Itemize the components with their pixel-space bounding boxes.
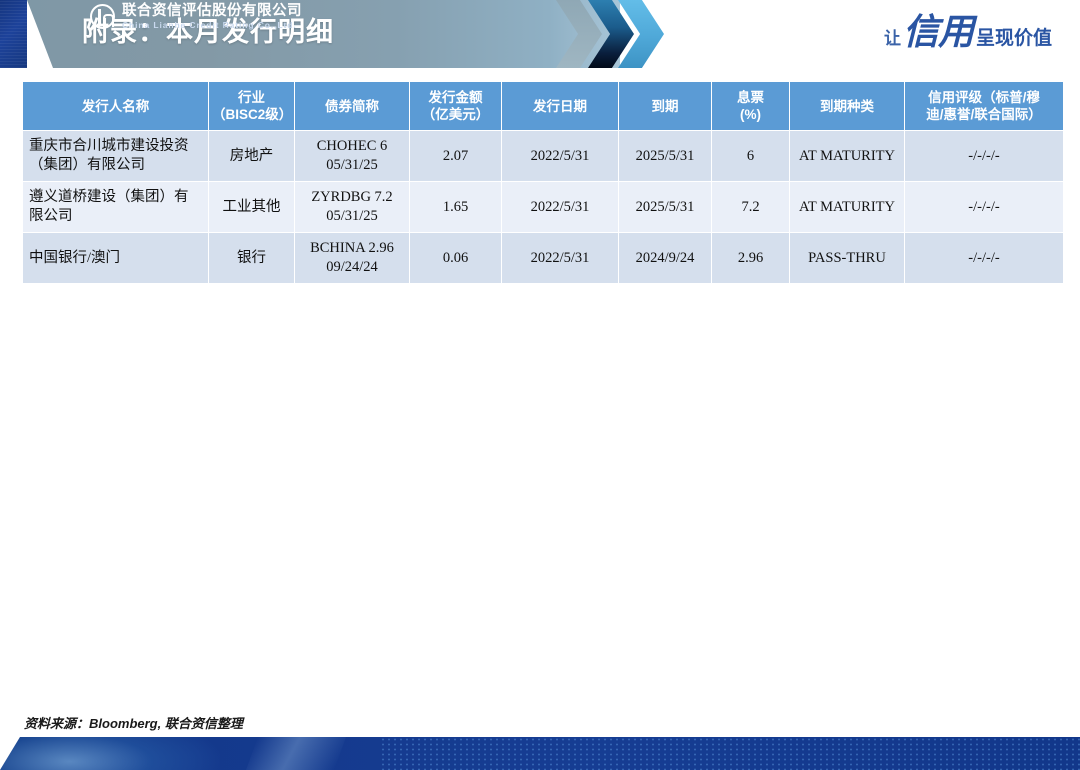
column-header-maturity-type-label: 到期种类 — [820, 99, 874, 114]
cell-issuer: 遵义道桥建设（集团）有限公司 — [23, 182, 209, 233]
cell-maturity-type: AT MATURITY — [790, 131, 905, 182]
table-row: 中国银行/澳门 银行 BCHINA 2.96 09/24/24 0.06 202… — [23, 233, 1064, 284]
cell-issue-date: 2022/5/31 — [502, 182, 619, 233]
cell-issue-date: 2022/5/31 — [502, 233, 619, 284]
cell-credit-rating: -/-/-/- — [905, 131, 1064, 182]
cell-maturity: 2024/9/24 — [619, 233, 712, 284]
column-header-credit-rating-line1: 信用评级（标普/穆 — [908, 89, 1060, 106]
cell-bond-name-line2: 05/31/25 — [301, 156, 403, 175]
cell-industry: 银行 — [209, 233, 295, 284]
cell-maturity-type: AT MATURITY — [790, 182, 905, 233]
cell-bond-name: ZYRDBG 7.2 05/31/25 — [295, 182, 410, 233]
footer-sheen-decoration — [246, 737, 346, 770]
cell-maturity-type: PASS-THRU — [790, 233, 905, 284]
footer-glow-decoration — [0, 737, 220, 770]
cell-bond-name-line2: 05/31/25 — [301, 207, 403, 226]
brand-tagline-suffix: 呈现价值 — [976, 23, 1052, 50]
brand-tagline-prefix: 让 — [884, 24, 901, 49]
cell-bond-name: CHOHEC 6 05/31/25 — [295, 131, 410, 182]
header-navy-accent — [0, 0, 27, 68]
cell-credit-rating: -/-/-/- — [905, 233, 1064, 284]
column-header-issue-date-label: 发行日期 — [533, 99, 587, 114]
column-header-amount: 发行金额 （亿美元） — [410, 82, 502, 131]
lianhe-logo-icon — [90, 4, 115, 29]
cell-issuer: 中国银行/澳门 — [23, 233, 209, 284]
column-header-bond-name: 债券简称 — [295, 82, 410, 131]
cell-maturity: 2025/5/31 — [619, 131, 712, 182]
column-header-issuer: 发行人名称 — [23, 82, 209, 131]
table-row: 遵义道桥建设（集团）有限公司 工业其他 ZYRDBG 7.2 05/31/25 … — [23, 182, 1064, 233]
column-header-amount-line2: （亿美元） — [413, 106, 498, 123]
column-header-coupon-line2: (%) — [715, 106, 786, 123]
cell-industry: 房地产 — [209, 131, 295, 182]
table-row: 重庆市合川城市建设投资（集团）有限公司 房地产 CHOHEC 6 05/31/2… — [23, 131, 1064, 182]
column-header-maturity-label: 到期 — [652, 99, 679, 114]
cell-bond-name-line1: CHOHEC 6 — [301, 137, 403, 156]
column-header-coupon-line1: 息票 — [715, 89, 786, 106]
cell-amount: 1.65 — [410, 182, 502, 233]
column-header-maturity: 到期 — [619, 82, 712, 131]
column-header-industry: 行业 （BISC2级） — [209, 82, 295, 131]
column-header-industry-line1: 行业 — [212, 89, 291, 106]
company-name-cn: 联合资信评估股份有限公司 — [122, 4, 302, 19]
slide-footer-bar — [0, 737, 1080, 770]
cell-coupon: 2.96 — [712, 233, 790, 284]
column-header-credit-rating: 信用评级（标普/穆 迪/惠誉/联合国际） — [905, 82, 1064, 131]
company-logo: 联合资信评估股份有限公司 China Lianhe Credit Rating … — [90, 2, 302, 31]
slide: 附录：本月发行明细 让 信用 呈现价值 — [0, 0, 1080, 770]
column-header-industry-line2: （BISC2级） — [212, 106, 291, 123]
table-header-row: 发行人名称 行业 （BISC2级） 债券简称 发行金额 （亿美元） 发行日期 — [23, 82, 1064, 131]
cell-coupon: 7.2 — [712, 182, 790, 233]
cell-amount: 2.07 — [410, 131, 502, 182]
cell-bond-name: BCHINA 2.96 09/24/24 — [295, 233, 410, 284]
cell-amount: 0.06 — [410, 233, 502, 284]
issuance-detail-table-wrapper: 发行人名称 行业 （BISC2级） 债券简称 发行金额 （亿美元） 发行日期 — [22, 81, 1063, 284]
cell-bond-name-line1: ZYRDBG 7.2 — [301, 188, 403, 207]
cell-industry: 工业其他 — [209, 182, 295, 233]
column-header-issue-date: 发行日期 — [502, 82, 619, 131]
brand-tagline-emphasis: 信用 — [903, 14, 973, 50]
cell-maturity: 2025/5/31 — [619, 182, 712, 233]
column-header-amount-line1: 发行金额 — [413, 89, 498, 106]
source-note: 资料来源：Bloomberg, 联合资信整理 — [24, 713, 243, 732]
cell-issuer: 重庆市合川城市建设投资（集团）有限公司 — [23, 131, 209, 182]
column-header-coupon: 息票 (%) — [712, 82, 790, 131]
cell-bond-name-line2: 09/24/24 — [301, 258, 403, 277]
footer-dot-pattern — [380, 737, 1080, 770]
column-header-credit-rating-line2: 迪/惠誉/联合国际） — [908, 106, 1060, 123]
column-header-issuer-label: 发行人名称 — [82, 99, 150, 114]
issuance-detail-table: 发行人名称 行业 （BISC2级） 债券简称 发行金额 （亿美元） 发行日期 — [22, 81, 1064, 284]
brand-tagline: 让 信用 呈现价值 — [884, 14, 1052, 50]
cell-coupon: 6 — [712, 131, 790, 182]
cell-issue-date: 2022/5/31 — [502, 131, 619, 182]
cell-credit-rating: -/-/-/- — [905, 182, 1064, 233]
company-name-en: China Lianhe Credit Rating Co.,Ltd. — [122, 21, 302, 30]
column-header-maturity-type: 到期种类 — [790, 82, 905, 131]
company-logo-text: 联合资信评估股份有限公司 China Lianhe Credit Rating … — [122, 4, 302, 29]
column-header-bond-name-label: 债券简称 — [325, 99, 379, 114]
cell-bond-name-line1: BCHINA 2.96 — [301, 239, 403, 258]
